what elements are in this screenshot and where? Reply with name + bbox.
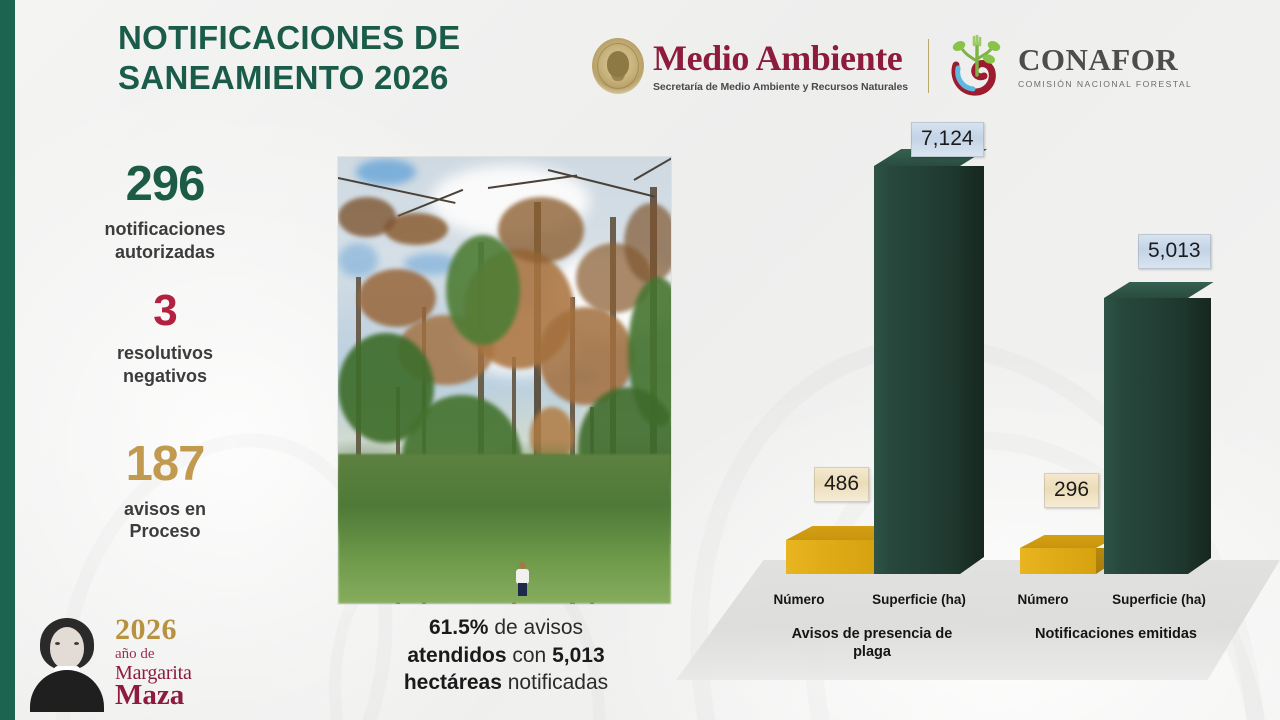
chart-floor-plane [676, 560, 1280, 680]
bar-g2-numero [1020, 548, 1096, 574]
data-label-g1-superficie: 7,124 [911, 122, 984, 157]
photo-caption: 61.5% de avisos atendidos con 5,013 hect… [336, 614, 676, 697]
bar-g1-superficie [874, 166, 960, 574]
mexican-coat-of-arms-icon [592, 38, 644, 94]
conafor-name: CONAFOR [1018, 44, 1192, 75]
page-title: NOTIFICACIONES DE SANEAMIENTO 2026 [118, 18, 588, 99]
semarnat-name: Medio Ambiente [653, 40, 908, 76]
semarnat-subtitle: Secretaría de Medio Ambiente y Recursos … [653, 81, 908, 93]
caption-bold-2: 5,013 [552, 644, 605, 667]
slide-canvas: NOTIFICACIONES DE SANEAMIENTO 2026 Medio… [0, 0, 1280, 720]
left-accent-stripe [0, 0, 15, 720]
data-label-g2-numero: 296 [1044, 473, 1099, 508]
logo-divider [928, 39, 929, 93]
badge-line4: Maza [115, 681, 192, 710]
group-label-notificaciones: Notificaciones emitidas [1006, 626, 1226, 644]
axis-label-g2-superficie: Superficie (ha) [1094, 592, 1224, 607]
margarita-maza-badge: 2026 año de Margarita Maza [28, 612, 243, 712]
badge-line2: año de [115, 647, 192, 662]
conafor-logo: CONAFOR COMISIÓN NACIONAL FORESTAL [946, 35, 1192, 97]
logo-bar: Medio Ambiente Secretaría de Medio Ambie… [592, 30, 1252, 102]
conafor-subtitle: COMISIÓN NACIONAL FORESTAL [1018, 79, 1192, 89]
semarnat-logo: Medio Ambiente Secretaría de Medio Ambie… [592, 38, 908, 94]
caption-percent: 61.5% [429, 616, 489, 639]
conafor-tree-icon [946, 35, 1008, 97]
caption-bold-3: hectáreas [404, 671, 502, 694]
stat-label-resolutivos: resolutivosnegativos [34, 342, 296, 387]
axis-label-g1-numero: Número [744, 592, 854, 607]
data-label-g2-superficie: 5,013 [1138, 234, 1211, 269]
person-in-photo [516, 562, 529, 596]
group-label-avisos: Avisos de presencia de plaga [772, 626, 972, 661]
stat-value-resolutivos: 3 [34, 289, 296, 333]
badge-year: 2026 [115, 615, 192, 645]
caption-bold-1: atendidos [407, 644, 506, 667]
stat-label-avisos: avisos enProceso [34, 498, 296, 543]
stat-label-notificaciones: notificacionesautorizadas [34, 218, 296, 263]
caption-text-3: notificadas [502, 671, 608, 694]
bar-g1-numero [786, 540, 874, 574]
data-label-g1-numero: 486 [814, 467, 869, 502]
axis-label-g2-numero: Número [988, 592, 1098, 607]
bar-chart: 7,124 486 5,013 296 Número Superficie (h… [676, 110, 1280, 720]
forest-photo [338, 157, 671, 604]
margarita-maza-portrait-icon [28, 616, 106, 712]
axis-label-g1-superficie: Superficie (ha) [854, 592, 984, 607]
caption-text-2: con [507, 644, 553, 667]
stat-value-notificaciones: 296 [34, 160, 296, 209]
bar-g2-superficie [1104, 298, 1188, 574]
caption-text-1: de avisos [488, 616, 583, 639]
stat-value-avisos: 187 [34, 440, 296, 489]
stats-panel: 296 notificacionesautorizadas 3 resoluti… [34, 160, 296, 543]
